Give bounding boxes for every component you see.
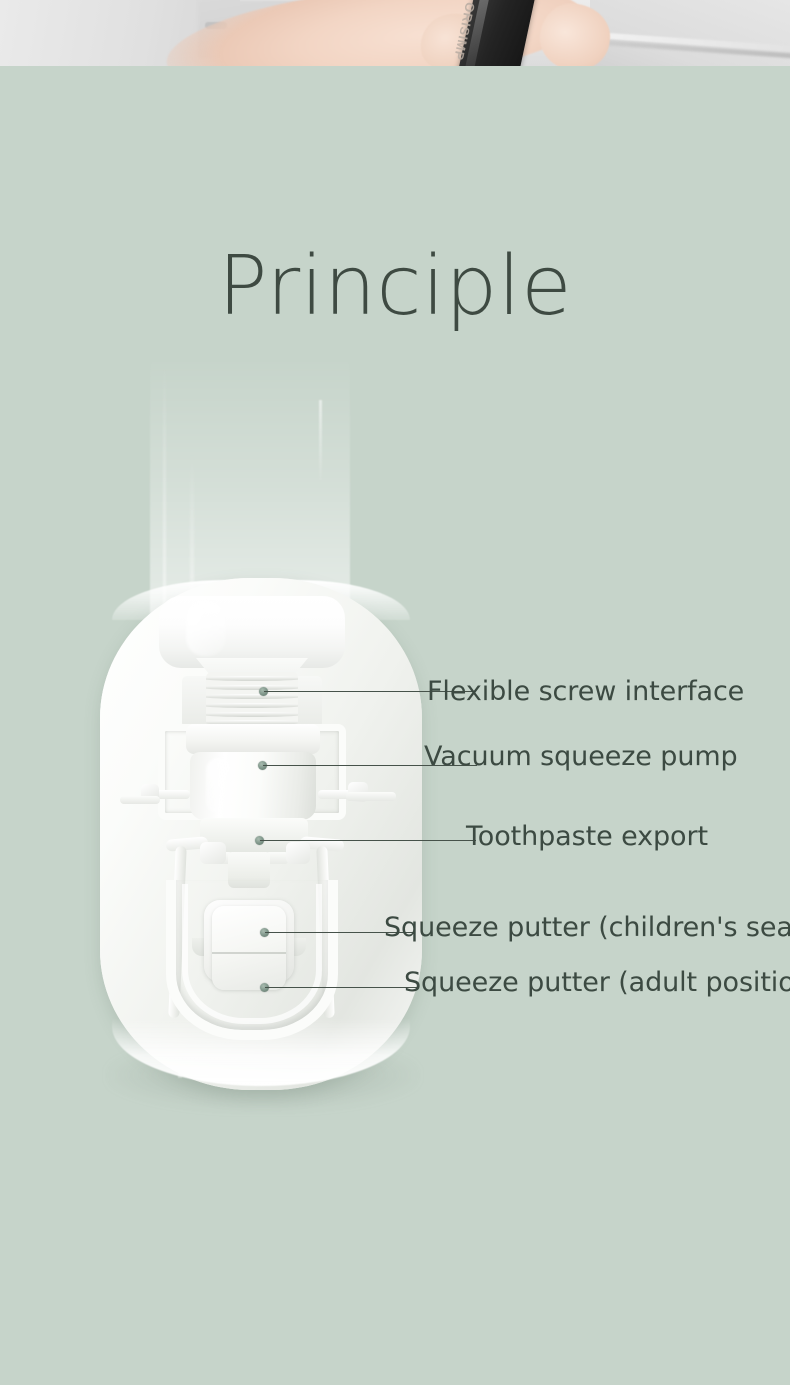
- callout-label-squeeze-putter-adult-position: Squeeze putter (adult position): [404, 967, 790, 998]
- callout-leader-squeeze-putter-adult-position: [265, 987, 417, 988]
- callout-leader-toothpaste-export: [260, 840, 476, 841]
- callout-layer: Flexible screw interface Vacuum squeeze …: [0, 0, 790, 1385]
- infographic-page: ORISIMP Principle: [0, 0, 790, 1385]
- callout-label-toothpaste-export: Toothpaste export: [466, 821, 708, 852]
- callout-label-squeeze-putter-childrens-seat: Squeeze putter (children's seat): [384, 912, 790, 943]
- callout-label-flexible-screw-interface: Flexible screw interface: [427, 676, 744, 707]
- callout-label-vacuum-squeeze-pump: Vacuum squeeze pump: [424, 741, 738, 772]
